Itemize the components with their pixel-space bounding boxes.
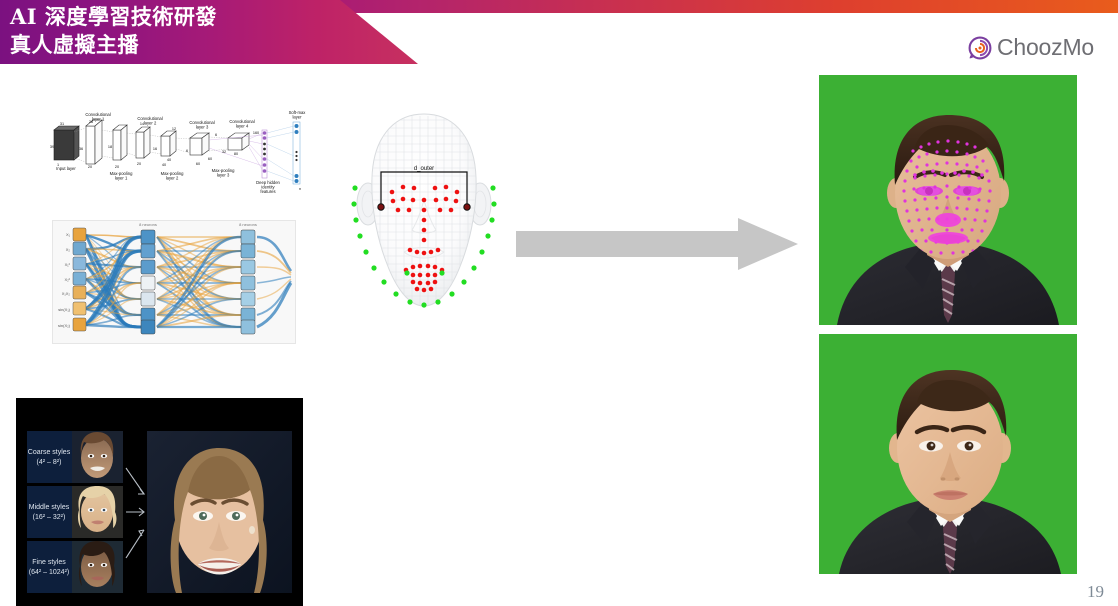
cnn-architecture-diagram: Input layer Convolutional layer 1 Max-po… [50, 108, 314, 196]
row-label-fine-2: (64² – 1024²) [29, 569, 69, 576]
svg-text:80: 80 [234, 152, 238, 156]
face-landmark-mesh-diagram: d_outer [330, 100, 518, 340]
svg-text:layer 3: layer 3 [196, 125, 209, 130]
svg-text:60: 60 [196, 162, 200, 166]
right-arrow-icon [516, 216, 798, 272]
portrait-landmarks-image [819, 75, 1077, 325]
svg-text:n: n [299, 187, 301, 191]
svg-text:39: 39 [50, 145, 54, 149]
slide-canvas: AI 深度學習技術研發 真人虛擬主播 ChoozMo [0, 0, 1118, 606]
svg-text:1: 1 [57, 163, 59, 167]
d-outer-label: d_outer [414, 166, 434, 172]
cnn-architecture-figure: Input layer Convolutional layer 1 Max-po… [50, 108, 314, 196]
stylegan-style-mixing-diagram: Coarse styles (4² – 8²) Middle styles (1… [16, 398, 303, 606]
svg-text:layer 2: layer 2 [144, 121, 157, 126]
svg-text:160: 160 [253, 131, 259, 135]
result-face [147, 431, 292, 593]
softmax-column [293, 122, 300, 184]
svg-text:X₁: X₁ [66, 232, 71, 237]
svg-text:features: features [260, 189, 275, 194]
page-title: AI 深度學習技術研發 真人虛擬主播 [10, 3, 340, 59]
spiral-logo-icon [968, 36, 992, 60]
svg-text:X₁²: X₁² [65, 262, 71, 267]
svg-text:layer: layer [292, 115, 302, 120]
nn-hidden2-label: 8 neurons [239, 222, 257, 227]
svg-text:layer 1: layer 1 [92, 117, 105, 122]
svg-text:sin(X₁): sin(X₁) [58, 307, 70, 312]
svg-text:36: 36 [79, 147, 83, 151]
nn-hidden1-label: 8 neurons [139, 222, 157, 227]
row-label-coarse-2: (4² – 8²) [37, 459, 62, 466]
svg-text:layer 2: layer 2 [166, 176, 179, 181]
svg-text:layer 3: layer 3 [217, 173, 230, 178]
svg-text:20: 20 [137, 162, 141, 166]
row-label-fine-1: Fine styles [32, 559, 66, 566]
svg-text:31: 31 [60, 122, 64, 126]
svg-text:16: 16 [153, 147, 157, 151]
svg-text:28: 28 [89, 120, 93, 124]
row-label-middle-1: Middle styles [29, 504, 70, 511]
svg-text:6: 6 [215, 133, 217, 137]
stylegan-figure: Coarse styles (4² – 8²) Middle styles (1… [16, 398, 303, 606]
svg-text:X₂²: X₂² [64, 277, 70, 282]
svg-text:14: 14 [140, 122, 144, 126]
svg-text:18: 18 [108, 145, 112, 149]
generated-portrait-image [819, 334, 1077, 574]
portrait-with-landmarks [819, 75, 1077, 325]
logo-text: ChoozMo [997, 34, 1094, 61]
svg-text:layer 1: layer 1 [115, 176, 128, 181]
nn-hidden-layer-1 [141, 230, 155, 334]
svg-text:layer 4: layer 4 [236, 124, 249, 129]
row-label-middle-2: (16² – 32²) [33, 514, 66, 521]
neural-network-diagram: X₁ X₂ X₁² X₂² X₁X₂ sin(X₁) sin(X₂) 8 neu… [53, 221, 295, 343]
source-face-thumbnails [72, 431, 123, 593]
neural-network-figure: X₁ X₂ X₁² X₂² X₁X₂ sin(X₁) sin(X₂) 8 neu… [52, 220, 296, 344]
svg-text:60: 60 [208, 157, 212, 161]
svg-text:12: 12 [172, 127, 176, 131]
svg-text:20: 20 [115, 165, 119, 169]
nn-hidden-layer-2 [241, 230, 255, 334]
portrait-clean [819, 334, 1077, 574]
page-number: 19 [1087, 582, 1104, 602]
svg-text:20: 20 [88, 165, 92, 169]
row-label-coarse-1: Coarse styles [28, 449, 71, 456]
svg-text:32: 32 [222, 150, 226, 154]
face-mesh-figure: d_outer [330, 100, 518, 340]
svg-text:40: 40 [167, 158, 171, 162]
cnn-label-input: Input layer [56, 166, 76, 171]
choozmo-logo: ChoozMo [968, 34, 1094, 61]
svg-text:sin(X₂): sin(X₂) [58, 323, 71, 328]
process-arrow [516, 216, 798, 272]
svg-text:X₂: X₂ [66, 247, 71, 252]
svg-text:40: 40 [162, 163, 166, 167]
svg-text:6: 6 [186, 149, 188, 153]
svg-text:X₁X₂: X₁X₂ [62, 291, 71, 296]
